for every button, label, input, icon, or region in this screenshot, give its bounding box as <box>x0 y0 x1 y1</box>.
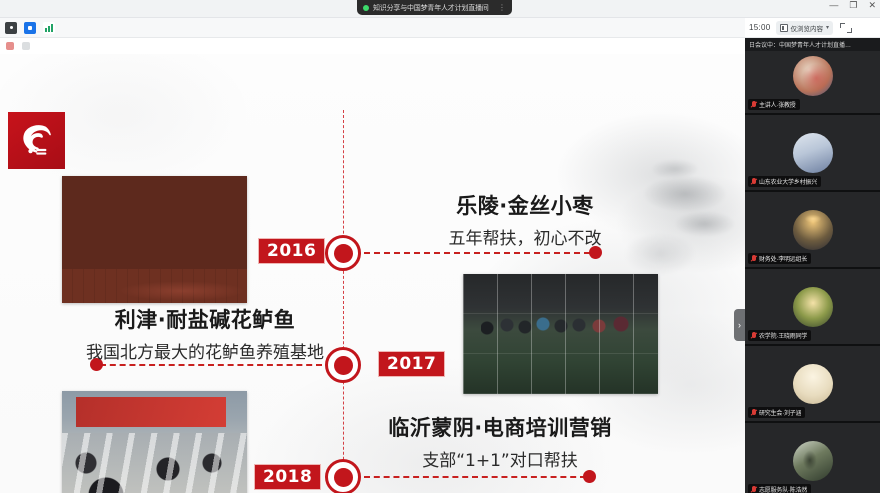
participant-name-badge: 山东农业大学乡村振兴 <box>748 176 821 187</box>
institution-logo <box>8 112 65 169</box>
meeting-time: 15:00 <box>749 23 771 32</box>
participant-name-badge: 财务处·李明远组长 <box>748 253 811 264</box>
avatar <box>793 364 833 404</box>
avatar <box>793 56 833 96</box>
avatar <box>793 441 833 481</box>
active-tab[interactable]: 知识分享与中国梦青年人才计划直播间 ⋮ <box>357 0 512 15</box>
participant-name: 农学院·王晓雨同学 <box>759 331 807 340</box>
participant-tile[interactable]: 财务处·李明远组长 <box>745 192 880 269</box>
avatar <box>793 287 833 327</box>
mic-muted-icon <box>751 332 757 340</box>
connector-2016 <box>364 252 590 254</box>
layout-label: 仅浏览内容 <box>791 23 824 33</box>
participant-name: 财务处·李明远组长 <box>759 254 807 263</box>
year-chip-2017: 2017 <box>378 351 445 377</box>
milestone-text-2018: 临沂蒙阴·电商培训营销 支部“1+1”对口帮扶 <box>350 412 650 471</box>
mic-muted-icon <box>751 255 757 263</box>
milestone-title-2017: 利津·耐盐碱花鲈鱼 <box>40 304 370 334</box>
milestone-title-2018: 临沂蒙阴·电商培训营销 <box>350 412 650 442</box>
milestone-subtitle-2016: 五年帮扶，初心不改 <box>375 224 675 249</box>
participant-name: 志愿服务队·陈浩然 <box>759 485 807 493</box>
participant-rail[interactable]: 日会议中：中国梦青年人才计划直播… 主讲人·张教授 山东农业大学乡村振兴 财务处… <box>745 38 880 493</box>
rail-collapse-handle[interactable]: › <box>734 309 745 341</box>
browser-tabstrip: 知识分享与中国梦青年人才计划直播间 ⋮ — ❐ ✕ <box>0 0 880 18</box>
milestone-text-2017: 利津·耐盐碱花鲈鱼 我国北方最大的花鲈鱼养殖基地 <box>40 304 370 363</box>
layout-icon <box>780 24 788 32</box>
close-button[interactable]: ✕ <box>868 1 876 10</box>
fullscreen-icon[interactable] <box>840 22 852 34</box>
participant-tile[interactable]: 农学院·王晓雨同学 <box>745 269 880 346</box>
year-chip-2018: 2018 <box>254 464 321 490</box>
timeline-node-2016[interactable] <box>325 235 361 271</box>
app-root: 知识分享与中国梦青年人才计划直播间 ⋮ — ❐ ✕ 15:00 仅浏览内容 ▾ <box>0 0 880 493</box>
mic-muted-icon <box>751 178 757 186</box>
tab-grip-icon[interactable]: ⋮ <box>498 3 506 12</box>
bookmark-red-icon <box>6 42 14 50</box>
mic-muted-icon <box>751 486 757 493</box>
bookmark-grey-icon <box>22 42 30 50</box>
milestone-photo-2017 <box>463 274 658 394</box>
milestone-text-2016: 乐陵·金丝小枣 五年帮扶，初心不改 <box>375 190 675 249</box>
connector-2017 <box>100 364 322 366</box>
mic-muted-icon <box>751 101 757 109</box>
window-controls: — ❐ ✕ <box>829 1 876 10</box>
bookmark-item[interactable] <box>22 42 30 50</box>
participant-name: 研究生会·刘子涵 <box>759 408 801 417</box>
avatar <box>793 133 833 173</box>
milestone-photo-2016 <box>62 176 247 303</box>
year-chip-2016: 2016 <box>258 238 325 264</box>
tab-title: 知识分享与中国梦青年人才计划直播间 <box>373 3 489 13</box>
extension-dark-icon[interactable] <box>5 22 17 34</box>
bookmark-item[interactable] <box>6 42 14 50</box>
minimize-button[interactable]: — <box>829 1 838 10</box>
connector-2018 <box>364 476 586 478</box>
participant-tile[interactable]: 志愿服务队·陈浩然 <box>745 423 880 493</box>
chevron-down-icon: ▾ <box>826 24 829 31</box>
participant-name-badge: 主讲人·张教授 <box>748 99 800 110</box>
participant-name-badge: 研究生会·刘子涵 <box>748 407 805 418</box>
extension-blue-icon[interactable] <box>24 22 36 34</box>
participant-name-badge: 志愿服务队·陈浩然 <box>748 484 811 493</box>
connector-enddot-2018 <box>583 470 596 483</box>
mic-muted-icon <box>751 409 757 417</box>
participant-tile[interactable]: 山东农业大学乡村振兴 <box>745 115 880 192</box>
milestone-title-2016: 乐陵·金丝小枣 <box>375 190 675 220</box>
timeline-axis <box>343 110 344 493</box>
participant-name: 主讲人·张教授 <box>759 100 796 109</box>
meeting-toolbar: 15:00 仅浏览内容 ▾ <box>745 18 880 38</box>
layout-selector[interactable]: 仅浏览内容 ▾ <box>776 21 834 35</box>
milestone-subtitle-2017: 我国北方最大的花鲈鱼养殖基地 <box>40 338 370 363</box>
participant-tile-self[interactable]: 日会议中：中国梦青年人才计划直播… 主讲人·张教授 <box>745 38 880 115</box>
self-meeting-label: 日会议中：中国梦青年人才计划直播… <box>745 38 880 51</box>
participant-tile[interactable]: 研究生会·刘子涵 <box>745 346 880 423</box>
tab-live-dot <box>363 5 369 11</box>
milestone-subtitle-2018: 支部“1+1”对口帮扶 <box>350 446 650 471</box>
restore-button[interactable]: ❐ <box>849 1 857 10</box>
avatar <box>793 210 833 250</box>
participant-name: 山东农业大学乡村振兴 <box>759 177 817 186</box>
shared-slide[interactable]: 2016 乐陵·金丝小枣 五年帮扶，初心不改 2017 利津·耐盐碱花鲈鱼 我国… <box>0 54 745 493</box>
analytics-green-icon[interactable] <box>43 22 55 34</box>
participant-name-badge: 农学院·王晓雨同学 <box>748 330 811 341</box>
milestone-photo-2018 <box>62 391 247 493</box>
